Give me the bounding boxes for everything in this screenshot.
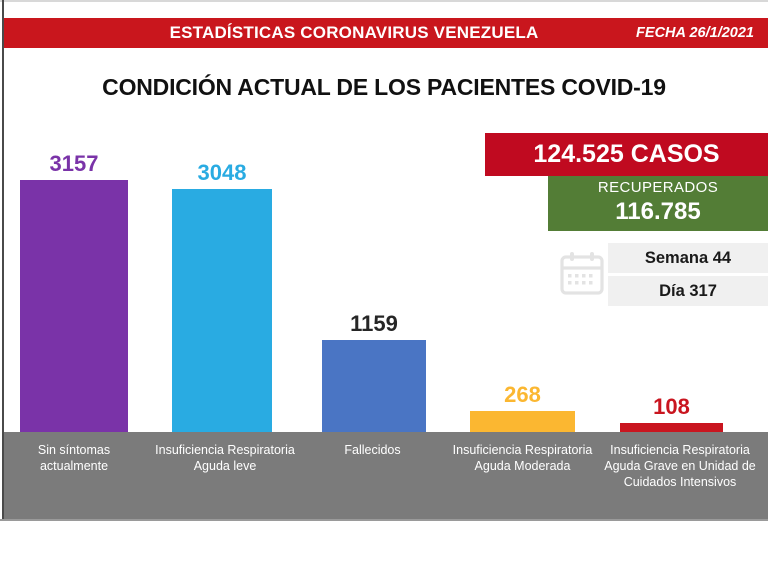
category-band: Sin síntomas actualmenteInsuficiencia Re… [4,432,768,520]
footer-area [0,521,768,573]
bar-column: 1159 [322,340,426,433]
bar-value-label: 1159 [322,311,426,337]
bar-column: 108 [620,423,723,432]
bar-value-label: 268 [470,382,575,408]
category-label: Sin síntomas actualmente [4,442,144,474]
bar-value-label: 3157 [20,151,128,177]
category-label: Insuficiencia Respiratoria Aguda leve [150,442,300,474]
bar-column: 3048 [172,189,272,432]
bar-column: 268 [470,411,575,432]
bar-value-label: 108 [620,394,723,420]
bar-column: 3157 [20,180,128,432]
bar-value-label: 3048 [172,160,272,186]
category-label: Insuficiencia Respiratoria Aguda Moderad… [445,442,600,474]
category-label: Insuficiencia Respiratoria Aguda Grave e… [600,442,760,490]
infographic-page: ESTADÍSTICAS CORONAVIRUS VENEZUELA FECHA… [0,0,768,573]
category-label: Fallecidos [300,442,445,458]
bar-chart-plot: 315730481159268108 [0,0,768,432]
